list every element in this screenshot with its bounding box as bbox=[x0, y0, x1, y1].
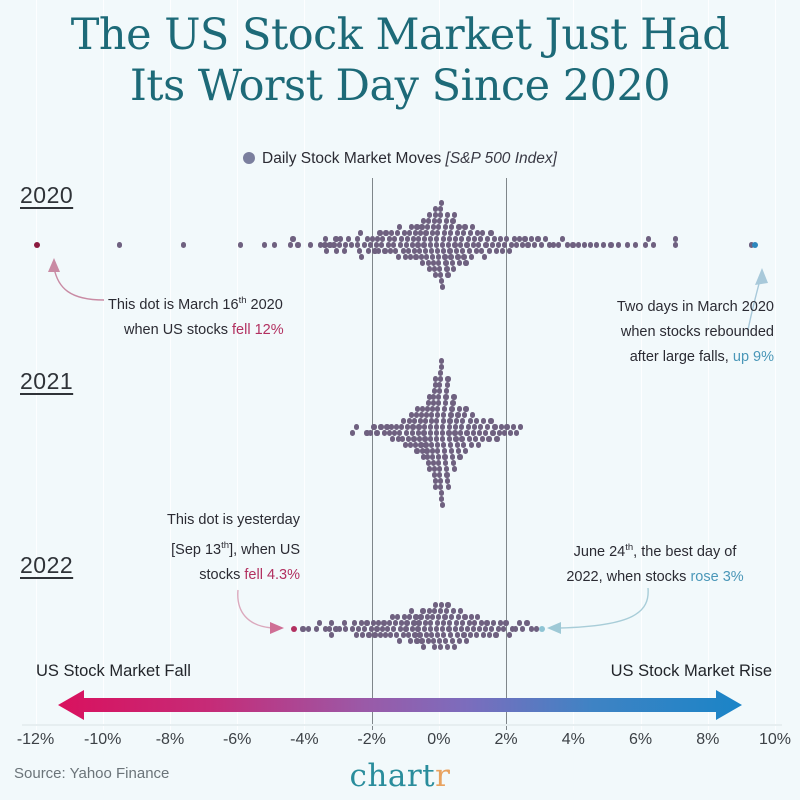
swarm-dot bbox=[417, 632, 422, 637]
swarm-dot bbox=[444, 266, 449, 271]
swarm-dot bbox=[522, 236, 527, 241]
swarm-dot bbox=[467, 620, 472, 625]
annotation-june24-line2: 2022, when stocks rose 3% bbox=[530, 565, 780, 590]
axis-tick-neg8: -8% bbox=[156, 731, 184, 749]
swarm-dot bbox=[238, 242, 243, 247]
swarm-dot bbox=[371, 424, 376, 429]
swarm-dot bbox=[435, 442, 440, 447]
swarm-dot bbox=[398, 242, 403, 247]
annotation-yesterday: This dot is yesterday [Sep 13th], when U… bbox=[150, 508, 300, 588]
year-label-2022: 2022 bbox=[20, 552, 73, 579]
axis-tick-neg12: -12% bbox=[17, 731, 54, 749]
swarm-dot bbox=[469, 442, 474, 447]
swarm-dot bbox=[520, 626, 525, 631]
swarm-dot bbox=[438, 478, 443, 483]
swarm-dot bbox=[338, 236, 343, 241]
axis-tick-10: 10% bbox=[759, 731, 791, 749]
swarm-dot bbox=[324, 248, 329, 253]
swarm-dot bbox=[436, 400, 441, 405]
swarm-dot bbox=[463, 406, 468, 411]
swarm-dot bbox=[437, 388, 442, 393]
swarm-dot bbox=[337, 626, 342, 631]
ordinal-suffix: th bbox=[625, 542, 633, 553]
swarm-dot bbox=[488, 418, 493, 423]
swarm-dot bbox=[342, 620, 347, 625]
swarm-dot bbox=[291, 626, 297, 632]
swarm-dot bbox=[472, 236, 477, 241]
swarm-dot bbox=[438, 370, 443, 375]
swarm-dot bbox=[512, 236, 517, 241]
swarm-dot bbox=[570, 242, 575, 247]
swarm-dot bbox=[399, 236, 404, 241]
swarm-dot bbox=[460, 248, 465, 253]
swarm-dot bbox=[392, 236, 397, 241]
swarm-dot bbox=[405, 236, 410, 241]
swarm-dot bbox=[426, 260, 431, 265]
swarm-dot bbox=[380, 236, 385, 241]
swarm-dot bbox=[436, 260, 441, 265]
axis-tick-4: 4% bbox=[562, 731, 585, 749]
swarm-dot bbox=[428, 436, 433, 441]
swarm-dot bbox=[478, 236, 483, 241]
swarm-dot bbox=[331, 242, 336, 247]
swarm-dot bbox=[418, 614, 423, 619]
swarm-dot bbox=[443, 460, 448, 465]
swarm-dot bbox=[556, 242, 561, 247]
swarm-dot bbox=[450, 260, 455, 265]
highlight-fell-43: fell 4.3% bbox=[244, 567, 300, 583]
swarm-dot bbox=[383, 230, 388, 235]
swarm-dot bbox=[493, 632, 498, 637]
swarm-dot bbox=[356, 626, 361, 631]
swarm-dot bbox=[494, 248, 499, 253]
swarm-dot bbox=[290, 236, 295, 241]
swarm-dot bbox=[455, 230, 460, 235]
swarm-dot bbox=[481, 632, 486, 637]
swarm-dot bbox=[504, 424, 509, 429]
swarm-dot bbox=[471, 626, 476, 631]
swarm-dot bbox=[428, 236, 433, 241]
axis-ticks: -12%-10%-8%-6%-4%-2%0%2%4%6%8%10% bbox=[0, 731, 800, 757]
swarm-dot bbox=[435, 230, 440, 235]
swarm-dot bbox=[452, 212, 457, 217]
swarm-dot bbox=[443, 260, 448, 265]
swarm-dot bbox=[464, 242, 469, 247]
swarm-dot bbox=[443, 400, 448, 405]
swarm-dot bbox=[485, 424, 490, 429]
swarm-dot bbox=[446, 242, 451, 247]
swarm-dot bbox=[508, 430, 513, 435]
swarm-dot bbox=[459, 626, 464, 631]
swarm-dot bbox=[448, 230, 453, 235]
swarm-dot bbox=[428, 620, 433, 625]
swarm-dot bbox=[404, 430, 409, 435]
swarm-dot bbox=[489, 626, 494, 631]
swarm-dot bbox=[435, 248, 440, 253]
swarm-dot bbox=[467, 248, 472, 253]
annotation-yesterday-line2: [Sep 13th], when US bbox=[150, 533, 300, 563]
swarm-dot bbox=[616, 242, 621, 247]
swarm-dot bbox=[387, 430, 392, 435]
swarm-dot bbox=[507, 632, 512, 637]
swarm-dot bbox=[386, 242, 391, 247]
swarm-dot bbox=[463, 448, 468, 453]
swarm-dot bbox=[444, 608, 449, 613]
swarm-dot bbox=[362, 242, 367, 247]
swarm-dot bbox=[382, 248, 387, 253]
axis-tick-6: 6% bbox=[629, 731, 652, 749]
swarm-dot bbox=[342, 248, 347, 253]
annotation-yesterday-line1: This dot is yesterday bbox=[150, 508, 300, 533]
swarm-dot bbox=[366, 248, 371, 253]
swarm-dot bbox=[470, 412, 475, 417]
swarm-dot bbox=[457, 406, 462, 411]
swarm-dot bbox=[378, 424, 383, 429]
swarm-dot bbox=[474, 632, 479, 637]
swarm-dot bbox=[469, 254, 474, 259]
swarm-dot bbox=[306, 626, 311, 631]
swarm-dot bbox=[406, 436, 411, 441]
swarm-dot bbox=[500, 248, 505, 253]
swarm-dot bbox=[408, 638, 413, 643]
swarm-dot bbox=[434, 436, 439, 441]
swarm-dot bbox=[412, 418, 417, 423]
swarm-dot bbox=[496, 242, 501, 247]
swarm-dot bbox=[442, 448, 447, 453]
swarm-dot bbox=[422, 424, 427, 429]
swarm-dot bbox=[418, 230, 423, 235]
swarm-dot bbox=[442, 254, 447, 259]
swarm-dot bbox=[459, 236, 464, 241]
swarm-dot bbox=[459, 436, 464, 441]
swarm-dot bbox=[588, 242, 593, 247]
swarm-dot bbox=[529, 236, 534, 241]
swarm-dot bbox=[416, 236, 421, 241]
swarm-dot bbox=[436, 454, 441, 459]
swarm-dot bbox=[477, 430, 482, 435]
swarm-dot bbox=[346, 236, 351, 241]
swarm-dot bbox=[457, 260, 462, 265]
swarm-dot bbox=[442, 614, 447, 619]
swarm-dot bbox=[492, 424, 497, 429]
swarm-dot bbox=[643, 242, 648, 247]
swarm-dot bbox=[395, 230, 400, 235]
swarm-dot bbox=[407, 614, 412, 619]
swarm-dot bbox=[463, 260, 468, 265]
swarm-dot bbox=[462, 614, 467, 619]
swarm-dot bbox=[385, 626, 390, 631]
swarm-dot bbox=[429, 442, 434, 447]
swarm-dot bbox=[390, 436, 395, 441]
swarm-dot bbox=[334, 248, 339, 253]
swarm-dot bbox=[458, 608, 463, 613]
swarm-dot bbox=[441, 418, 446, 423]
swarm-dot bbox=[352, 620, 357, 625]
swarm-dot bbox=[460, 620, 465, 625]
swarm-dot bbox=[272, 242, 277, 247]
swarm-dot bbox=[350, 626, 355, 631]
swarm-dot bbox=[439, 200, 444, 205]
swarm-dot bbox=[355, 242, 360, 247]
swarm-dot bbox=[314, 626, 319, 631]
axis-baseline bbox=[22, 724, 782, 726]
swarm-dot bbox=[452, 644, 457, 649]
swarm-dot bbox=[451, 460, 456, 465]
swarm-dot bbox=[441, 632, 446, 637]
swarm-dot bbox=[423, 418, 428, 423]
swarm-dot bbox=[477, 626, 482, 631]
swarm-dot bbox=[430, 614, 435, 619]
swarm-dot bbox=[535, 236, 540, 241]
swarm-dot bbox=[441, 620, 446, 625]
axis-tick-0: 0% bbox=[427, 731, 450, 749]
swarm-dot bbox=[441, 248, 446, 253]
swarm-dot bbox=[391, 626, 396, 631]
swarm-dot bbox=[410, 242, 415, 247]
swarm-dot bbox=[440, 436, 445, 441]
swarm-dot bbox=[343, 626, 348, 631]
swarm-dot bbox=[438, 608, 443, 613]
swarm-dot bbox=[476, 442, 481, 447]
swarm-dot bbox=[437, 638, 442, 643]
swarm-dot bbox=[400, 436, 405, 441]
swarm-dot bbox=[449, 614, 454, 619]
swarm-dot bbox=[404, 242, 409, 247]
swarm-dot bbox=[34, 242, 40, 248]
swarm-dot bbox=[410, 424, 415, 429]
swarm-dot bbox=[501, 626, 506, 631]
swarm-dot bbox=[453, 236, 458, 241]
swarm-dot bbox=[409, 608, 414, 613]
swarm-dot bbox=[117, 242, 122, 247]
swarm-dot bbox=[360, 632, 365, 637]
swarm-dot bbox=[368, 242, 373, 247]
swarm-dot bbox=[439, 278, 444, 283]
swarm-dot bbox=[651, 242, 656, 247]
swarm-dot bbox=[429, 248, 434, 253]
swarm-dot bbox=[397, 224, 402, 229]
swarm-dot bbox=[368, 430, 373, 435]
swarm-dot bbox=[436, 224, 441, 229]
swarm-dot bbox=[394, 632, 399, 637]
axis-label-rise: US Stock Market Rise bbox=[611, 662, 772, 681]
swarm-dot bbox=[451, 394, 456, 399]
swarm-dot bbox=[425, 224, 430, 229]
logo-r: r bbox=[435, 758, 450, 794]
swarm-dot bbox=[460, 418, 465, 423]
swarm-dot bbox=[464, 638, 469, 643]
annotation-june24-line1: June 24th, the best day of bbox=[530, 535, 780, 565]
swarm-dot bbox=[393, 620, 398, 625]
swarm-dot bbox=[434, 430, 439, 435]
swarm-dot bbox=[436, 394, 441, 399]
swarm-dot bbox=[329, 620, 334, 625]
swarm-dot bbox=[511, 424, 516, 429]
swarm-dot bbox=[483, 626, 488, 631]
swarm-dot bbox=[379, 242, 384, 247]
swarm-dot bbox=[323, 236, 328, 241]
swarm-dot bbox=[454, 620, 459, 625]
swarm-dot bbox=[430, 454, 435, 459]
swarm-dot bbox=[673, 242, 678, 247]
swarm-dot bbox=[445, 478, 450, 483]
swarm-dot bbox=[419, 638, 424, 643]
swarm-dot bbox=[475, 614, 480, 619]
swarm-dot bbox=[448, 632, 453, 637]
swarm-dot bbox=[438, 212, 443, 217]
swarm-dot bbox=[432, 466, 437, 471]
swarm-dot bbox=[502, 430, 507, 435]
swarm-dot bbox=[445, 602, 450, 607]
swarm-dot bbox=[439, 358, 444, 363]
swarm-dot bbox=[372, 632, 377, 637]
swarm-dot bbox=[434, 424, 439, 429]
swarm-dot bbox=[439, 490, 444, 495]
logo-chart: chart bbox=[350, 758, 436, 794]
swarm-dot bbox=[437, 266, 442, 271]
swarm-dot bbox=[492, 236, 497, 241]
axis-tick-neg10: -10% bbox=[84, 731, 121, 749]
swarm-dot bbox=[358, 230, 363, 235]
swarm-dot bbox=[435, 632, 440, 637]
swarm-dot bbox=[440, 430, 445, 435]
swarm-dot bbox=[482, 254, 487, 259]
swarm-dot bbox=[461, 254, 466, 259]
swarm-dot bbox=[582, 242, 587, 247]
swarm-dot bbox=[456, 224, 461, 229]
swarm-dot bbox=[437, 472, 442, 477]
swarm-dot bbox=[369, 626, 374, 631]
swarm-dot bbox=[450, 638, 455, 643]
swarm-dot bbox=[423, 442, 428, 447]
swarm-dot bbox=[445, 644, 450, 649]
swarm-dot bbox=[517, 236, 522, 241]
swarm-dot bbox=[429, 632, 434, 637]
swarm-dot bbox=[446, 430, 451, 435]
swarm-dot bbox=[443, 638, 448, 643]
swarm-dot bbox=[426, 218, 431, 223]
swarm-dot bbox=[524, 620, 529, 625]
swarm-dot bbox=[357, 248, 362, 253]
swarm-dot bbox=[429, 412, 434, 417]
swarm-dot bbox=[395, 614, 400, 619]
swarm-dot bbox=[449, 448, 454, 453]
swarm-dot bbox=[428, 626, 433, 631]
swarm-dot bbox=[354, 632, 359, 637]
annotation-rebound: Two days in March 2020 when stocks rebou… bbox=[617, 295, 774, 370]
swarm-dot bbox=[422, 436, 427, 441]
swarm-dot bbox=[389, 424, 394, 429]
swarm-dot bbox=[436, 460, 441, 465]
swarm-dot bbox=[421, 644, 426, 649]
swarm-dot bbox=[422, 626, 427, 631]
swarm-dot bbox=[438, 484, 443, 489]
swarm-dot bbox=[459, 424, 464, 429]
swarm-dot bbox=[451, 266, 456, 271]
gridline-2 bbox=[506, 178, 507, 730]
swarm-dot bbox=[445, 272, 450, 277]
swarm-dot bbox=[428, 424, 433, 429]
swarm-dot bbox=[486, 436, 491, 441]
swarm-dot bbox=[466, 236, 471, 241]
swarm-dot bbox=[396, 254, 401, 259]
swarm-dot bbox=[427, 608, 432, 613]
swarm-dot bbox=[480, 230, 485, 235]
swarm-dot bbox=[464, 430, 469, 435]
swarm-dot bbox=[450, 400, 455, 405]
swarm-dot bbox=[420, 260, 425, 265]
swarm-dot bbox=[424, 254, 429, 259]
swarm-dot bbox=[454, 248, 459, 253]
swarm-dot bbox=[181, 242, 186, 247]
swarm-dot bbox=[441, 412, 446, 417]
highlight-fell-12: fell 12% bbox=[232, 322, 284, 338]
swarm-dot bbox=[633, 242, 638, 247]
axis-tick-2: 2% bbox=[495, 731, 518, 749]
swarm-dot bbox=[478, 424, 483, 429]
swarm-dot bbox=[448, 254, 453, 259]
ordinal-suffix: th bbox=[239, 295, 247, 306]
swarm-dot bbox=[514, 242, 519, 247]
swarm-dot bbox=[470, 224, 475, 229]
swarm-dot bbox=[455, 632, 460, 637]
swarm-dot bbox=[423, 248, 428, 253]
annotation-march16-line2: when US stocks fell 12% bbox=[124, 318, 284, 343]
swarm-dot bbox=[480, 436, 485, 441]
swarm-dot bbox=[439, 364, 444, 369]
legend-label: Daily Stock Market Moves bbox=[262, 150, 441, 167]
swarm-dot bbox=[438, 644, 443, 649]
swarm-dot bbox=[421, 242, 426, 247]
swarm-dot bbox=[520, 242, 525, 247]
annotation-march16-line1: This dot is March 16th 2020 bbox=[108, 288, 284, 318]
swarm-dot bbox=[483, 430, 488, 435]
swarm-dot bbox=[429, 418, 434, 423]
swarm-dot bbox=[415, 242, 420, 247]
swarm-dot bbox=[517, 620, 522, 625]
swarm-dot bbox=[490, 430, 495, 435]
swarm-dot bbox=[455, 412, 460, 417]
swarm-dot bbox=[467, 436, 472, 441]
swarm-dot bbox=[437, 382, 442, 387]
swarm-dot bbox=[487, 632, 492, 637]
swarm-dot bbox=[262, 242, 267, 247]
swarm-dot bbox=[462, 412, 467, 417]
swarm-dot bbox=[440, 424, 445, 429]
swarm-dot bbox=[453, 424, 458, 429]
swarm-dot bbox=[393, 248, 398, 253]
swarm-dot bbox=[487, 248, 492, 253]
swarm-dot bbox=[359, 254, 364, 259]
swarm-dot bbox=[410, 430, 415, 435]
swarm-dot bbox=[443, 394, 448, 399]
swarm-dot bbox=[442, 406, 447, 411]
swarm-dot bbox=[494, 436, 499, 441]
swarm-dot bbox=[376, 248, 381, 253]
swarm-dot bbox=[430, 254, 435, 259]
swarm-dot bbox=[456, 448, 461, 453]
swarm-dot bbox=[435, 406, 440, 411]
swarm-dot bbox=[422, 236, 427, 241]
swarm-dot bbox=[350, 430, 355, 435]
swarm-dot bbox=[439, 496, 444, 501]
swarm-dot bbox=[461, 442, 466, 447]
swarm-dot bbox=[473, 436, 478, 441]
swarm-dot bbox=[390, 614, 395, 619]
swarm-dot bbox=[452, 466, 457, 471]
swarm-dot bbox=[453, 436, 458, 441]
swarm-dot bbox=[673, 236, 678, 241]
